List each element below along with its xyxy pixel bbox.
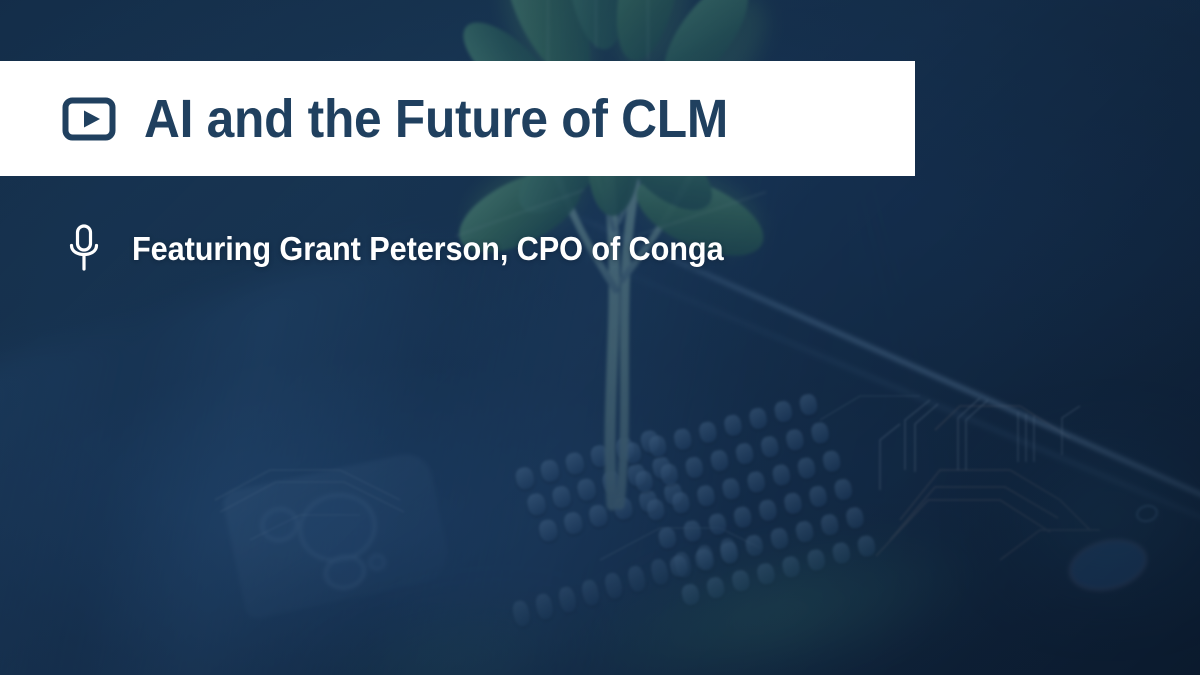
page-title: AI and the Future of CLM [144,92,728,146]
title-slide: AI and the Future of CLM Featuring Grant… [0,0,1200,675]
subtitle-row: Featuring Grant Peterson, CPO of Conga [0,212,768,284]
title-band: AI and the Future of CLM [0,61,915,176]
microphone-icon [66,223,102,273]
video-play-icon [62,97,116,141]
subtitle-speaker: Featuring Grant Peterson, CPO of Conga [132,232,724,265]
